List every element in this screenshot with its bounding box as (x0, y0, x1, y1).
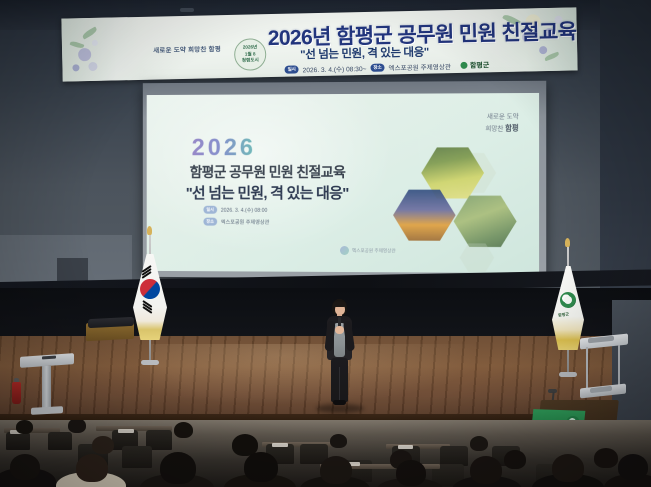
presenter-shoes (333, 400, 346, 405)
banner-place-pill: 장소 (370, 63, 384, 71)
audience-area (0, 420, 651, 487)
slide-footer: 엑스포공원 주제영상관 (340, 246, 396, 255)
attendee-head (504, 450, 526, 469)
hex-tile-ghost (460, 242, 495, 272)
seat (440, 446, 468, 466)
handout (118, 429, 134, 433)
slide-year: 2026 (192, 134, 256, 162)
slide-place-pill: 장소 (203, 218, 216, 226)
attendee-head (92, 436, 114, 454)
banner-date-value: 2026. 3. 4.(수) 08:30~ (302, 62, 366, 73)
handout (398, 445, 413, 449)
slide-brand: 새로운 도약 희망찬 함평 (485, 111, 518, 135)
slide-date-value: 2026. 3. 4.(수) 08:00 (221, 206, 268, 213)
lectern-base (31, 406, 63, 415)
seat (122, 446, 152, 468)
banner-slogan: 새로운 도약 희망찬 함평 (144, 45, 230, 57)
banner-left-decor (61, 17, 140, 82)
banner-place-value: 엑스포공원 주제영상관 (388, 61, 451, 72)
slide-brand-prefix: 희망찬 (485, 126, 505, 133)
korean-flag-base (141, 360, 159, 365)
county-flag-finial-icon (565, 238, 570, 247)
seat (6, 432, 30, 450)
attendee-head (10, 454, 40, 480)
lectern (20, 355, 74, 417)
attendee-head (320, 456, 352, 484)
slide-hex-gallery (387, 146, 527, 257)
projection-screen: 2026 함평군 공무원 민원 친절교육 "선 넘는 민원, 격 있는 대응" … (147, 93, 539, 273)
slide-place-value: 엑스포공원 주제영상관 (221, 218, 270, 225)
cart-leg (586, 347, 588, 389)
seat (48, 432, 72, 450)
stage-floor-highlight (150, 344, 480, 404)
slide-brand-line-2: 희망찬 함평 (485, 123, 518, 136)
banner-date-pill: 일시 (284, 65, 298, 73)
attendee-head (174, 422, 193, 438)
attendee-head (470, 456, 502, 484)
presenter-leg-split (339, 367, 340, 401)
county-flag-base (559, 372, 577, 377)
auditorium-photo: 새로운 도약 희망찬 함평 2026년 1월 8 청렴도시 2026년 함평군 … (0, 0, 651, 487)
badge-line-3: 청렴도시 (242, 58, 259, 65)
attendee-head (160, 452, 196, 484)
attendee-head (618, 454, 648, 480)
flower-icon (92, 40, 98, 46)
banner-org-mark: 함평군 (461, 60, 490, 71)
attendee-head (470, 436, 488, 451)
attendee-head (76, 454, 108, 482)
attendee-head (16, 420, 33, 434)
banner-org-name: 함평군 (470, 60, 490, 70)
handout (272, 443, 288, 447)
slide-meta-row: 일시 2026. 3. 4.(수) 08:00 (203, 206, 269, 214)
slide-meta: 일시 2026. 3. 4.(수) 08:00 장소 엑스포공원 주제영상관 (203, 206, 269, 226)
banner-badge: 2026년 1월 8 청렴도시 (234, 38, 267, 71)
projection-screen-frame: 2026 함평군 공무원 민원 친절교육 "선 넘는 민원, 격 있는 대응" … (143, 81, 546, 279)
ceiling-vent (180, 8, 194, 12)
lectern-stem (42, 366, 51, 408)
slide-brand-strong: 함평 (505, 124, 518, 133)
attendee-head (396, 460, 426, 486)
slide-brand-line-1: 새로운 도약 (485, 111, 518, 122)
slide-date-pill: 일시 (203, 206, 216, 214)
hampyeong-emblem-icon (461, 62, 468, 69)
slide-footer-text: 엑스포공원 주제영상관 (352, 248, 396, 254)
hampyeong-emblem-inner (564, 296, 572, 304)
hampyeong-logo-icon (340, 246, 349, 255)
fire-extinguisher-icon (12, 382, 21, 404)
slide-meta-row: 장소 엑스포공원 주제영상관 (203, 218, 269, 226)
attendee-head (68, 420, 86, 433)
presenter (322, 299, 356, 409)
cart-leg (618, 345, 620, 389)
attendee-head (330, 434, 347, 448)
attendee-head (552, 454, 584, 482)
presenter-bangs (333, 301, 346, 307)
attendee-head (244, 452, 278, 482)
attendee-head (594, 448, 618, 468)
korean-flag-finial-icon (147, 226, 152, 235)
presenter-hands (335, 326, 344, 334)
event-banner: 새로운 도약 희망찬 함평 2026년 1월 8 청렴도시 2026년 함평군 … (61, 7, 577, 81)
hex-tile-landscape (454, 194, 517, 249)
